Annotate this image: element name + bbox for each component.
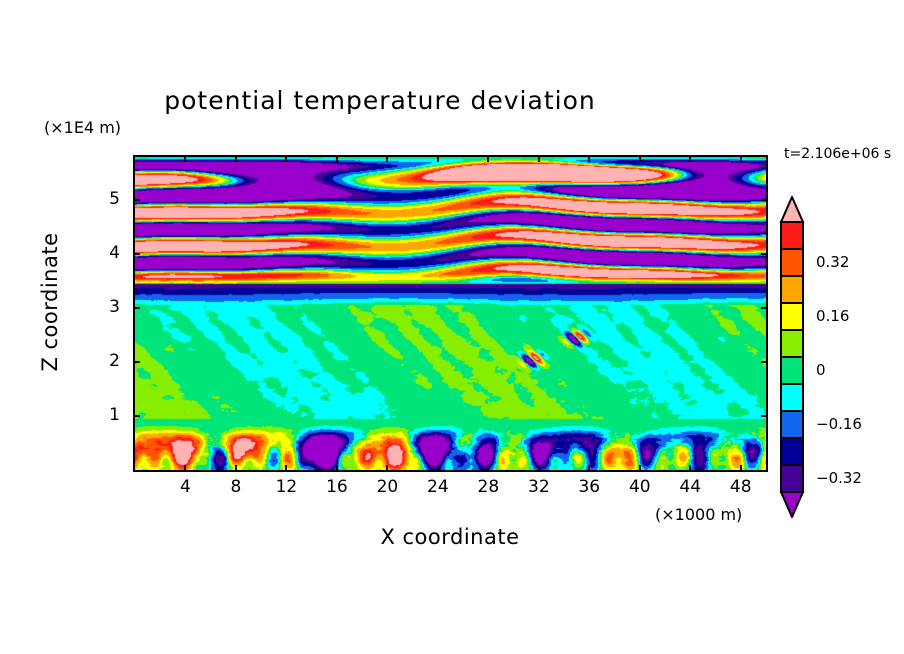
x-tick-label: 24 [418,477,458,497]
x-tick [689,465,691,472]
y-tick [133,361,140,363]
colorbar-band [781,249,803,276]
y-tick-label: 1 [96,405,120,425]
colorbar-band [781,384,803,411]
colorbar-cap-low [781,492,803,517]
x-tick-label: 44 [670,477,710,497]
y-tick [133,307,140,309]
x-tick-label: 48 [721,477,761,497]
x-tick [437,465,439,472]
y-tick [133,253,140,255]
x-tick-label: 20 [367,477,407,497]
y-axis-title: Z coordinate [38,222,62,382]
x-tick-label: 12 [266,477,306,497]
colorbar-tick-label: −0.16 [816,415,862,433]
colorbar-band [781,330,803,357]
x-tick [740,155,742,162]
colorbar [779,196,805,518]
x-tick [538,155,540,162]
colorbar-band [781,465,803,492]
x-tick [184,155,186,162]
colorbar-band [781,357,803,384]
x-tick [336,155,338,162]
x-tick-label: 36 [569,477,609,497]
colorbar-tick-label: 0.16 [816,307,849,325]
x-tick [437,155,439,162]
y-tick [761,307,768,309]
y-tick-label: 2 [96,351,120,371]
colorbar-band [781,411,803,438]
colorbar-tick-label: 0 [816,361,826,379]
x-tick [740,465,742,472]
x-axis-unit-label: (×1000 m) [655,505,742,524]
colorbar-band [781,222,803,249]
y-tick [133,415,140,417]
y-tick-label: 5 [96,189,120,209]
y-tick [761,199,768,201]
colorbar-band [781,438,803,465]
x-axis-title: X coordinate [270,525,630,549]
colorbar-tick-label: −0.32 [816,469,862,487]
y-tick-label: 3 [96,297,120,317]
x-tick [184,465,186,472]
x-tick-label: 16 [317,477,357,497]
x-tick [639,155,641,162]
y-tick [761,253,768,255]
x-tick [689,155,691,162]
x-tick [285,465,287,472]
x-tick [386,465,388,472]
x-tick [386,155,388,162]
page-title: potential temperature deviation [0,86,760,115]
x-tick [487,155,489,162]
y-axis-unit-label: (×1E4 m) [44,118,121,137]
x-tick [235,155,237,162]
time-annotation: t=2.106e+06 s [784,146,891,162]
colorbar-band [781,276,803,303]
x-tick-label: 40 [620,477,660,497]
x-tick [588,155,590,162]
y-tick [133,199,140,201]
x-tick [588,465,590,472]
y-tick [761,361,768,363]
x-tick [285,155,287,162]
x-tick-label: 4 [165,477,205,497]
figure: potential temperature deviation (×1E4 m)… [0,0,904,654]
x-tick-label: 32 [519,477,559,497]
x-tick-label: 28 [468,477,508,497]
colorbar-tick-label: 0.32 [816,253,849,271]
y-tick-label: 4 [96,243,120,263]
x-tick [639,465,641,472]
x-tick [487,465,489,472]
colorbar-cap-high [781,197,803,222]
x-tick [336,465,338,472]
colorbar-band [781,303,803,330]
contour-plot [133,155,768,472]
x-tick [538,465,540,472]
contour-canvas [135,157,766,470]
x-tick-label: 8 [216,477,256,497]
colorbar-tick-labels: 0.320.160−0.16−0.32 [810,196,900,518]
x-tick [235,465,237,472]
y-tick [761,415,768,417]
